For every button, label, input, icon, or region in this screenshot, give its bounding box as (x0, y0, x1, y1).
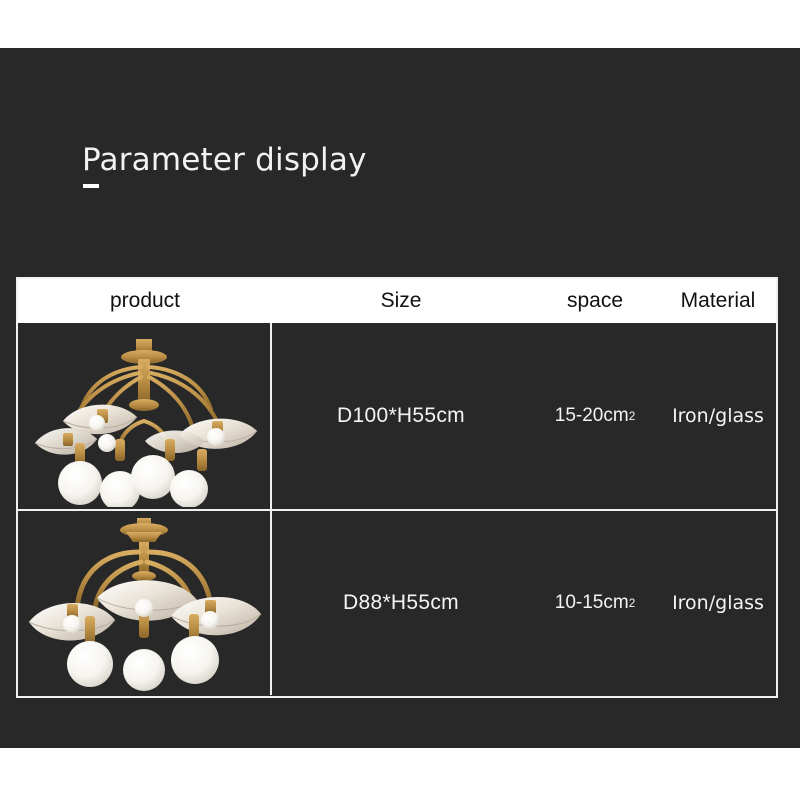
column-header-product: product (18, 279, 272, 323)
cell-material: Iron/glass (660, 511, 776, 695)
chandelier-6-arm-icon (19, 325, 269, 507)
column-header-material: Material (660, 279, 776, 323)
cell-material: Iron/glass (660, 323, 776, 509)
page-root: Parameter display product Size space Mat… (0, 0, 800, 800)
product-image-cell (18, 511, 272, 695)
table-row: D100*H55cm 15-20cm2 Iron/glass (18, 323, 776, 509)
table-row: D88*H55cm 10-15cm2 Iron/glass (18, 509, 776, 695)
space-unit-superscript: 2 (629, 597, 636, 610)
page-title: Parameter display (82, 140, 682, 180)
product-image-cell (18, 323, 272, 509)
space-value: 15-20cm (555, 405, 629, 427)
cell-space: 15-20cm2 (530, 323, 660, 509)
heading-accent-underline (83, 184, 99, 188)
table-header-row: product Size space Material (18, 279, 776, 323)
column-header-space: space (530, 279, 660, 323)
space-value: 10-15cm (555, 592, 629, 614)
parameter-table: product Size space Material (16, 277, 778, 698)
cell-size: D100*H55cm (272, 323, 530, 509)
cell-space: 10-15cm2 (530, 511, 660, 695)
cell-size: D88*H55cm (272, 511, 530, 695)
column-header-size: Size (272, 279, 530, 323)
chandelier-3-arm-icon (19, 512, 269, 694)
section-heading: Parameter display (82, 140, 682, 180)
space-unit-superscript: 2 (629, 410, 636, 423)
